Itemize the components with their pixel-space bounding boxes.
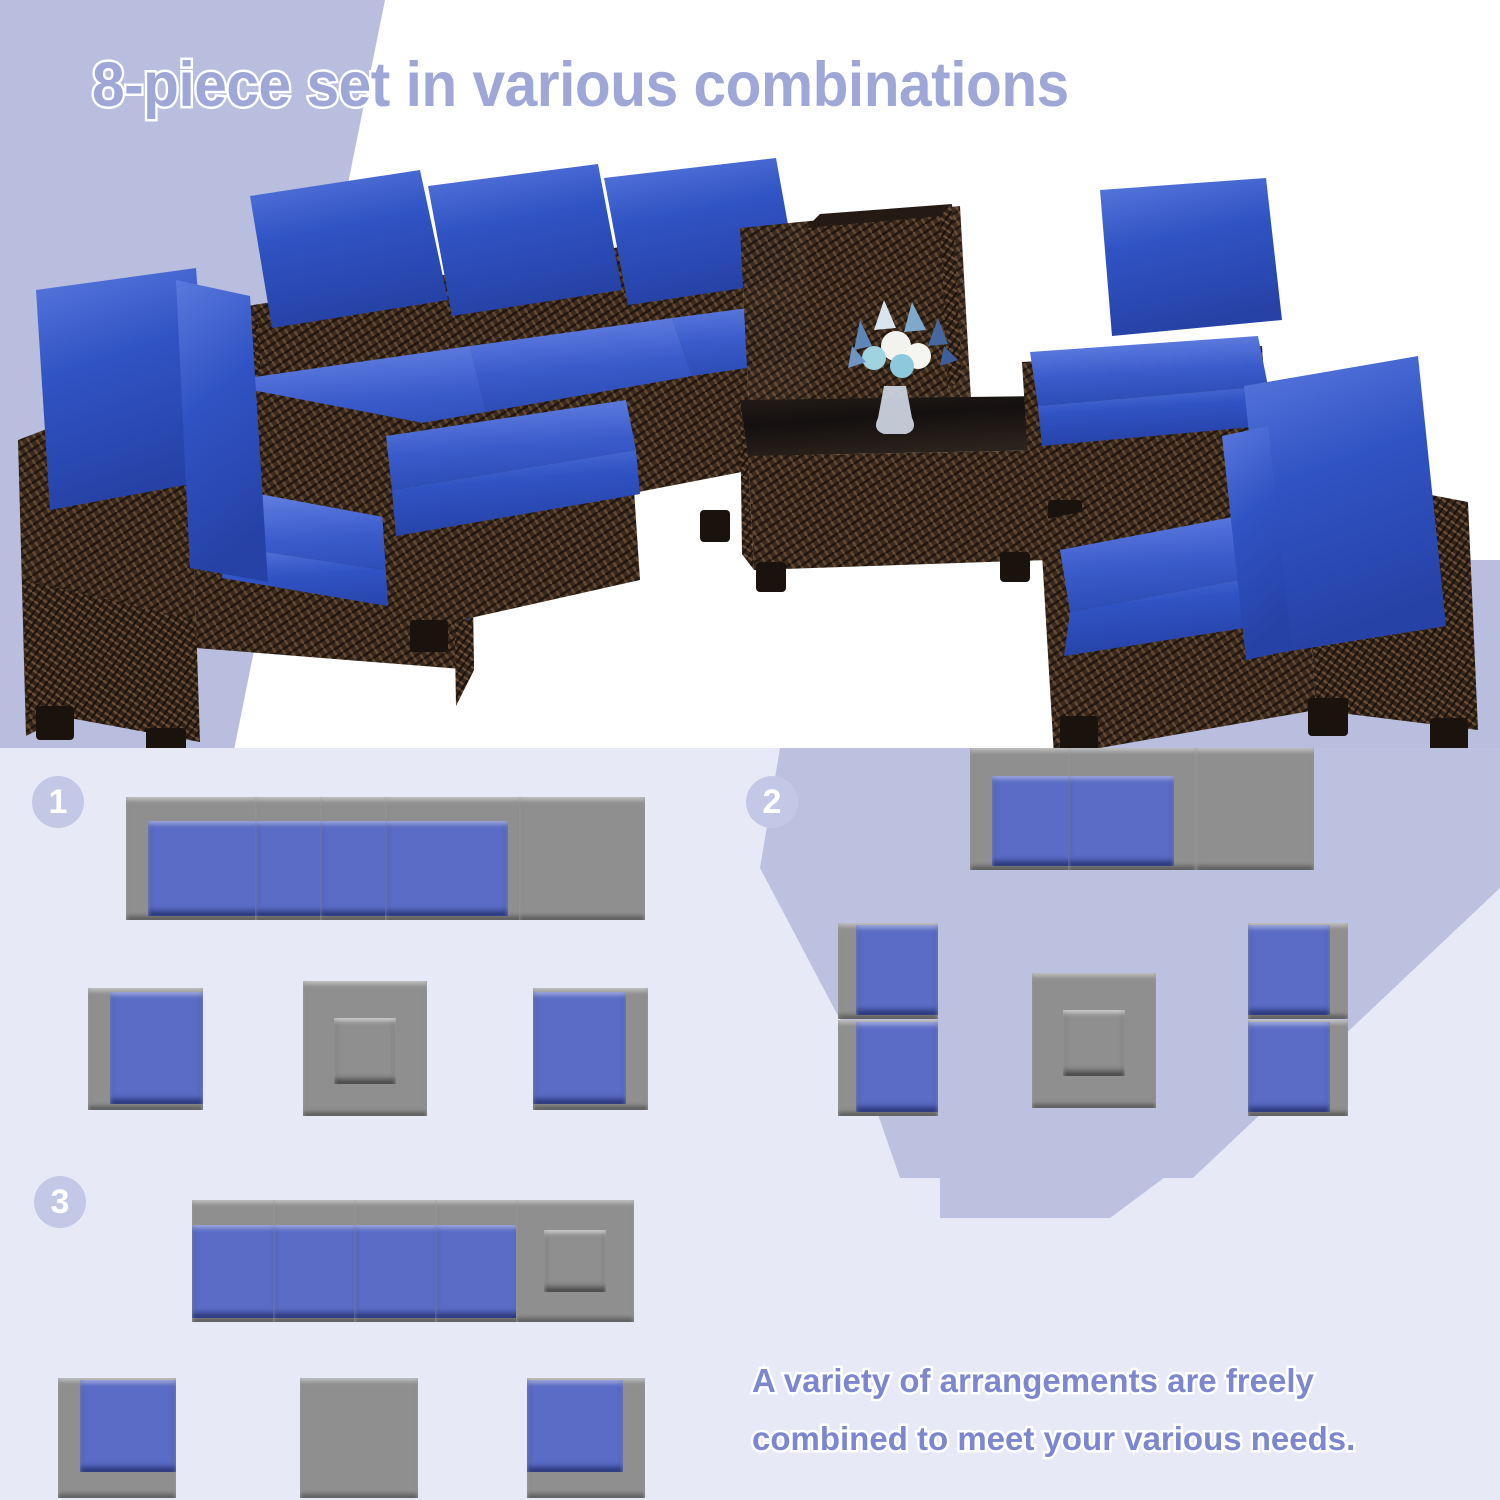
infographic-page: 8-piece set in various combinations xyxy=(0,0,1500,1500)
combination-1-coffee-table xyxy=(303,981,427,1116)
combination-2-side-module xyxy=(1196,748,1314,870)
left-armless-module xyxy=(380,400,640,652)
combination-1-side-module xyxy=(519,797,645,920)
combination-badge-1: 1 xyxy=(32,776,84,828)
combination-3-coffee-table xyxy=(516,1200,634,1322)
combination-3-seat-4 xyxy=(435,1200,520,1322)
combination-3-left-corner-chair xyxy=(58,1378,176,1498)
combination-1-right-corner-chair xyxy=(533,988,648,1110)
page-title: 8-piece set in various combinations xyxy=(92,52,1320,118)
combination-badge-3: 3 xyxy=(34,1176,86,1228)
footer-caption: A variety of arrangements are freely com… xyxy=(752,1352,1452,1468)
combination-3-seat-2 xyxy=(273,1200,358,1322)
combination-badge-2: 2 xyxy=(746,776,798,828)
combination-2-left-seat-top xyxy=(838,923,938,1019)
combination-1-seat-4 xyxy=(385,797,522,920)
combination-3-right-corner-chair xyxy=(527,1378,645,1498)
combination-2-left-seat-bottom xyxy=(838,1020,938,1116)
caption-line-1: A variety of arrangements are freely xyxy=(752,1352,1452,1410)
hero-product-photo xyxy=(0,150,1500,760)
combination-1-left-corner-chair xyxy=(88,988,203,1110)
combination-2-right-seat-top xyxy=(1248,923,1348,1019)
combination-2-coffee-table xyxy=(1032,973,1156,1108)
combination-3-plain-module xyxy=(300,1378,418,1498)
combination-2-right-seat-bottom xyxy=(1248,1020,1348,1116)
caption-line-2: combined to meet your various needs. xyxy=(752,1410,1452,1468)
combination-2-seat-2 xyxy=(1068,748,1196,870)
patio-set-illustration xyxy=(0,150,1500,760)
combination-3-seat-1 xyxy=(192,1200,277,1322)
combination-3-seat-3 xyxy=(354,1200,439,1322)
